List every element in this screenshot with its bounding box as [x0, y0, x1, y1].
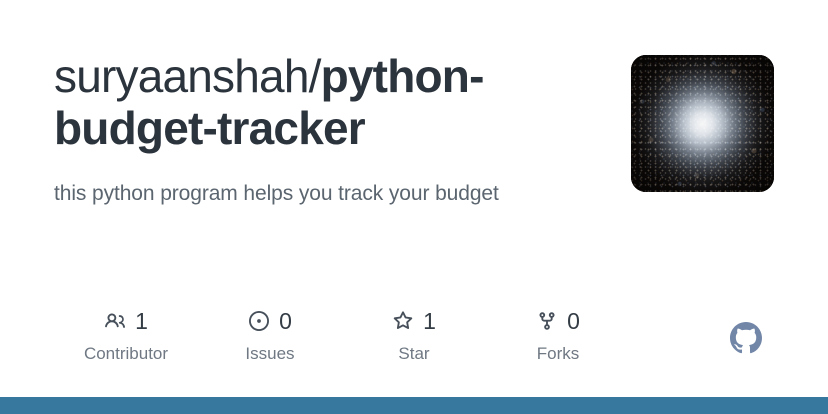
page-title: suryaanshah/python-budget-tracker — [54, 50, 614, 154]
people-icon — [104, 310, 126, 332]
stat-forks-top: 0 — [486, 306, 630, 336]
stat-star-top: 1 — [342, 306, 486, 336]
repo-heading-block: suryaanshah/python-budget-tracker this p… — [54, 50, 614, 208]
stat-contributor-top: 1 — [54, 306, 198, 336]
stat-star-label: Star — [342, 336, 486, 364]
stat-issues-top: 0 — [198, 306, 342, 336]
stat-forks: 0 Forks — [486, 306, 630, 364]
stat-forks-label: Forks — [486, 336, 630, 364]
issue-opened-icon — [248, 310, 270, 332]
stat-forks-value: 0 — [567, 310, 580, 333]
github-octocat-icon — [730, 322, 762, 354]
star-icon — [392, 310, 414, 332]
repo-stats-row: 1 Contributor 0 Issues — [54, 306, 774, 364]
stat-issues: 0 Issues — [198, 306, 342, 364]
stat-contributor: 1 Contributor — [54, 306, 198, 364]
repo-social-preview-card: suryaanshah/python-budget-tracker this p… — [0, 0, 828, 414]
stat-issues-label: Issues — [198, 336, 342, 364]
avatar — [631, 55, 774, 192]
repo-forked-icon — [536, 310, 558, 332]
avatar-vignette — [631, 55, 774, 192]
repo-title-separator: / — [309, 50, 321, 102]
stat-contributor-value: 1 — [135, 310, 148, 333]
stat-issues-value: 0 — [279, 310, 292, 333]
repo-owner: suryaanshah — [54, 50, 309, 102]
bottom-accent-bar — [0, 397, 828, 414]
stat-star: 1 Star — [342, 306, 486, 364]
stat-contributor-label: Contributor — [54, 336, 198, 364]
repo-description: this python program helps you track your… — [54, 154, 614, 208]
stat-star-value: 1 — [423, 310, 436, 333]
card-header: suryaanshah/python-budget-tracker this p… — [54, 50, 774, 208]
